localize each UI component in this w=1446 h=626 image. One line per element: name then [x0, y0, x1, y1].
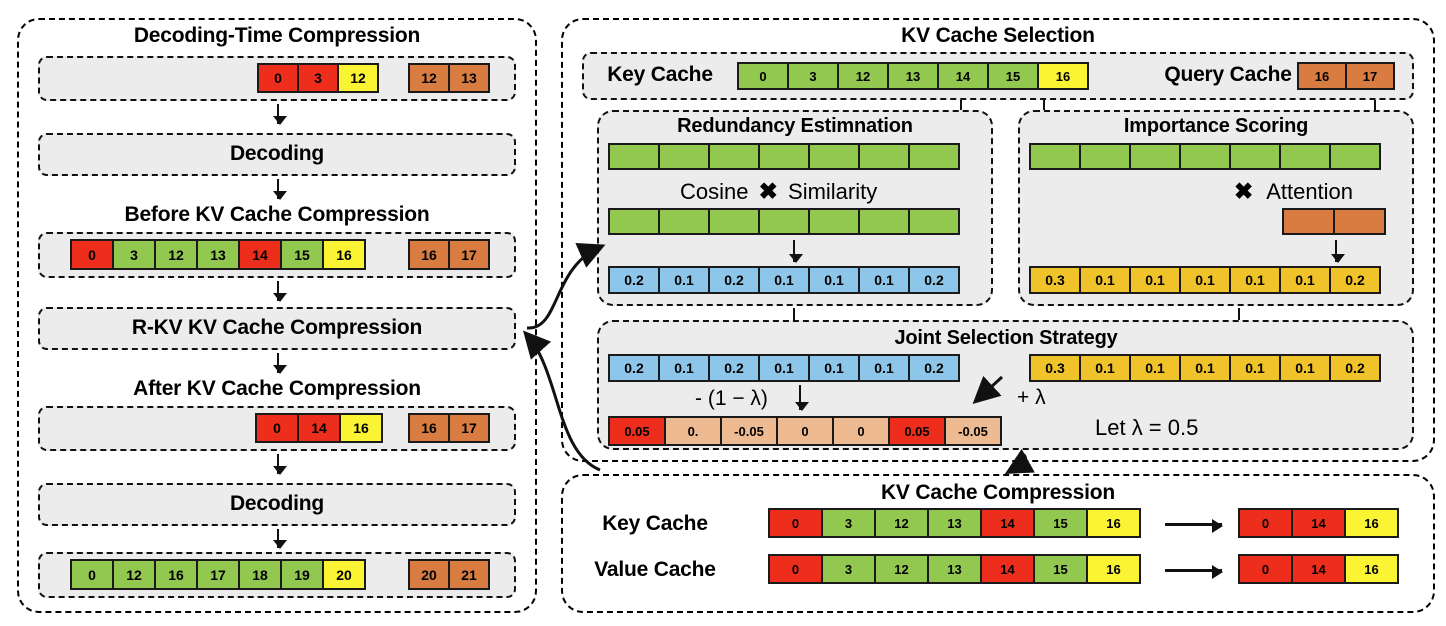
cache-cell: 14 [937, 62, 989, 90]
cache-cell: 14 [297, 413, 341, 443]
left-panel-title: Decoding-Time Compression [134, 24, 420, 48]
cache-cell: 16 [322, 239, 366, 270]
cache-cell: 12 [874, 508, 929, 538]
cache-cell: 0.1 [858, 354, 910, 382]
cache-cell [608, 208, 660, 235]
arrow-decoding-to-before [277, 179, 279, 199]
cache-cell: 16 [339, 413, 383, 443]
joint-selection-title: Joint Selection Strategy [894, 327, 1117, 350]
cache-cell: 0 [70, 559, 114, 590]
kv-cache-compression-title: KV Cache Compression [881, 481, 1115, 505]
cache-cell: 0.2 [908, 266, 960, 294]
cache-cell [1229, 143, 1281, 170]
cache-cell: 0.1 [1229, 266, 1281, 294]
cache-cell [858, 208, 910, 235]
arrow-redundancy-internal [793, 240, 795, 262]
arrow-joint-left-down [799, 385, 801, 410]
cache-cell: 13 [448, 63, 490, 93]
cache-cell: -0.05 [944, 416, 1002, 446]
joint-redundancy-strip: 0.20.10.20.10.10.10.2 [608, 354, 960, 382]
redundancy-title: Redundancy Estimnation [677, 115, 913, 138]
cache-cell: 0.1 [808, 354, 860, 382]
arrow-before-to-rkv [277, 281, 279, 301]
cache-cell: 12 [837, 62, 889, 90]
cache-cell [908, 208, 960, 235]
cache-cell: 17 [1345, 62, 1395, 90]
arrow-initial-to-decoding [277, 104, 279, 124]
joint-result-strip: 0.050.-0.05000.05-0.05 [608, 416, 1002, 446]
after-key-strip: 01416 [255, 413, 383, 443]
cache-cell: 0. [664, 416, 722, 446]
cache-cell: 0.2 [608, 266, 660, 294]
cache-cell: 15 [1033, 508, 1088, 538]
cache-cell: 15 [1033, 554, 1088, 584]
cache-cell: 14 [1291, 508, 1346, 538]
query-cache-label: Query Cache [1164, 63, 1291, 87]
cache-cell: 14 [980, 554, 1035, 584]
cache-cell: 0.2 [1329, 266, 1381, 294]
key-cache-strip: 031213141516 [737, 62, 1089, 90]
cache-cell: 0.1 [758, 354, 810, 382]
x-multiply-icon: ✖ [755, 178, 782, 205]
decoding-label-2: Decoding [230, 492, 324, 516]
arrow-key-compress [1165, 523, 1222, 526]
cache-cell: 12 [408, 63, 450, 93]
compression-key-before-strip: 031213141516 [768, 508, 1141, 538]
final-query-strip: 2021 [408, 559, 490, 590]
compression-value-after-strip: 01416 [1238, 554, 1399, 584]
cache-cell [1029, 143, 1081, 170]
cache-cell: 17 [448, 413, 490, 443]
cache-cell: 0.1 [1129, 266, 1181, 294]
cache-cell: 0.1 [1179, 266, 1231, 294]
cache-cell: 16 [1086, 554, 1141, 584]
lambda-note: Let λ = 0.5 [1095, 415, 1198, 441]
cache-cell [658, 143, 710, 170]
cache-cell: 0.1 [1079, 354, 1131, 382]
cache-cell: 0.1 [808, 266, 860, 294]
kv-cache-selection-title: KV Cache Selection [901, 24, 1095, 48]
cache-cell: 16 [1344, 554, 1399, 584]
cache-cell: 12 [154, 239, 198, 270]
plus-lambda-label: + λ [1017, 386, 1046, 410]
cache-cell: 20 [322, 559, 366, 590]
cache-cell: 3 [821, 508, 876, 538]
cache-cell: 21 [448, 559, 490, 590]
cache-cell: 20 [408, 559, 450, 590]
importance-row1 [1029, 143, 1381, 170]
cache-cell: 3 [297, 63, 339, 93]
cache-cell: 15 [987, 62, 1039, 90]
compression-value-before-strip: 031213141516 [768, 554, 1141, 584]
cache-cell [808, 208, 860, 235]
cache-cell: 3 [112, 239, 156, 270]
cache-cell: 16 [154, 559, 198, 590]
cache-cell: 12 [112, 559, 156, 590]
cache-cell [1129, 143, 1181, 170]
cache-cell: 14 [980, 508, 1035, 538]
query-cache-strip: 1617 [1297, 62, 1395, 90]
cache-cell: 3 [821, 554, 876, 584]
cache-cell: 13 [887, 62, 939, 90]
cache-cell: 0.2 [608, 354, 660, 382]
cache-cell: 16 [408, 239, 450, 270]
similarity-text: Similarity [788, 179, 877, 204]
attention-text: Attention [1266, 179, 1353, 204]
cache-cell: 0.2 [708, 266, 760, 294]
cache-cell [758, 208, 810, 235]
compression-key-after-strip: 01416 [1238, 508, 1399, 538]
cache-cell: 17 [448, 239, 490, 270]
cache-cell: 0 [768, 554, 823, 584]
cache-cell: 18 [238, 559, 282, 590]
cache-cell: 0.1 [1229, 354, 1281, 382]
cache-cell: 14 [1291, 554, 1346, 584]
attention-label: ✖ Attention [1234, 178, 1353, 205]
cosine-text: Cosine [680, 179, 748, 204]
importance-title: Importance Scoring [1124, 115, 1308, 138]
cache-cell [1179, 143, 1231, 170]
cache-cell [1329, 143, 1381, 170]
cache-cell [1282, 208, 1335, 235]
cache-cell: 0.1 [1079, 266, 1131, 294]
cache-cell [708, 143, 760, 170]
cache-cell: 0.3 [1029, 354, 1081, 382]
arrow-rkv-to-after [277, 353, 279, 373]
cache-cell: 14 [238, 239, 282, 270]
cache-cell: 13 [196, 239, 240, 270]
minus-one-minus-lambda-label: - (1 − λ) [695, 387, 768, 411]
diagram-root: Decoding-Time Compression 0312 1213 Deco… [0, 0, 1446, 626]
cache-cell [1079, 143, 1131, 170]
arrow-importance-internal [1335, 240, 1337, 262]
cache-cell [758, 143, 810, 170]
final-key-strip: 0121617181920 [70, 559, 366, 590]
cache-cell: 16 [1037, 62, 1089, 90]
cache-cell: 0.1 [658, 354, 710, 382]
cache-cell [708, 208, 760, 235]
key-cache-label: Key Cache [607, 63, 713, 87]
cache-cell [808, 143, 860, 170]
cache-cell: 0.1 [1179, 354, 1231, 382]
rkv-compression-label: R-KV KV Cache Compression [132, 316, 422, 340]
arrow-after-to-decoding2 [277, 454, 279, 474]
cache-cell: 0 [257, 63, 299, 93]
cache-cell: 0 [1238, 508, 1293, 538]
cache-cell [858, 143, 910, 170]
cache-cell: 0 [832, 416, 890, 446]
cache-cell: 16 [1344, 508, 1399, 538]
after-compression-title: After KV Cache Compression [133, 377, 421, 401]
cache-cell: 3 [787, 62, 839, 90]
before-key-strip: 031213141516 [70, 239, 366, 270]
before-compression-title: Before KV Cache Compression [124, 203, 429, 227]
cache-cell [908, 143, 960, 170]
cache-cell [658, 208, 710, 235]
cache-cell: 15 [280, 239, 324, 270]
cache-cell: 0.2 [908, 354, 960, 382]
cache-cell: 0.1 [758, 266, 810, 294]
compression-value-cache-label: Value Cache [594, 558, 716, 582]
cache-cell [1279, 143, 1331, 170]
cache-cell: 0.1 [1279, 354, 1331, 382]
cache-cell: 0.1 [1279, 266, 1331, 294]
cache-cell: 13 [927, 508, 982, 538]
importance-scores-strip: 0.30.10.10.10.10.10.2 [1029, 266, 1381, 294]
cache-cell: 16 [1297, 62, 1347, 90]
importance-query-row [1282, 208, 1386, 235]
cache-cell: 0.1 [658, 266, 710, 294]
cache-cell: 0 [776, 416, 834, 446]
cache-cell: -0.05 [720, 416, 778, 446]
redundancy-row2 [608, 208, 960, 235]
cache-cell [608, 143, 660, 170]
cache-cell [1333, 208, 1386, 235]
initial-query-strip: 1213 [408, 63, 490, 93]
joint-importance-strip: 0.30.10.10.10.10.10.2 [1029, 354, 1381, 382]
redundancy-scores-strip: 0.20.10.20.10.10.10.2 [608, 266, 960, 294]
after-query-strip: 1617 [408, 413, 490, 443]
cache-cell: 16 [408, 413, 450, 443]
cosine-similarity-label: Cosine ✖ Similarity [680, 178, 877, 205]
decoding-label-1: Decoding [230, 142, 324, 166]
redundancy-row1 [608, 143, 960, 170]
cache-cell: 0.05 [888, 416, 946, 446]
cache-cell: 0 [255, 413, 299, 443]
cache-cell: 0.1 [858, 266, 910, 294]
arrow-value-compress [1165, 569, 1222, 572]
cache-cell: 0 [70, 239, 114, 270]
cache-cell: 19 [280, 559, 324, 590]
cache-cell: 12 [874, 554, 929, 584]
initial-key-strip: 0312 [257, 63, 379, 93]
cache-cell: 16 [1086, 508, 1141, 538]
x-multiply-icon-2: ✖ [1234, 178, 1261, 205]
cache-cell: 0.1 [1129, 354, 1181, 382]
cache-cell: 0 [768, 508, 823, 538]
arrow-decoding2-to-final [277, 529, 279, 548]
cache-cell: 0.05 [608, 416, 666, 446]
cache-cell: 0 [737, 62, 789, 90]
cache-cell: 0.3 [1029, 266, 1081, 294]
before-query-strip: 1617 [408, 239, 490, 270]
cache-cell: 17 [196, 559, 240, 590]
cache-cell: 13 [927, 554, 982, 584]
cache-cell: 12 [337, 63, 379, 93]
cache-cell: 0 [1238, 554, 1293, 584]
compression-key-cache-label: Key Cache [602, 512, 708, 536]
cache-cell: 0.2 [1329, 354, 1381, 382]
cache-cell: 0.2 [708, 354, 760, 382]
